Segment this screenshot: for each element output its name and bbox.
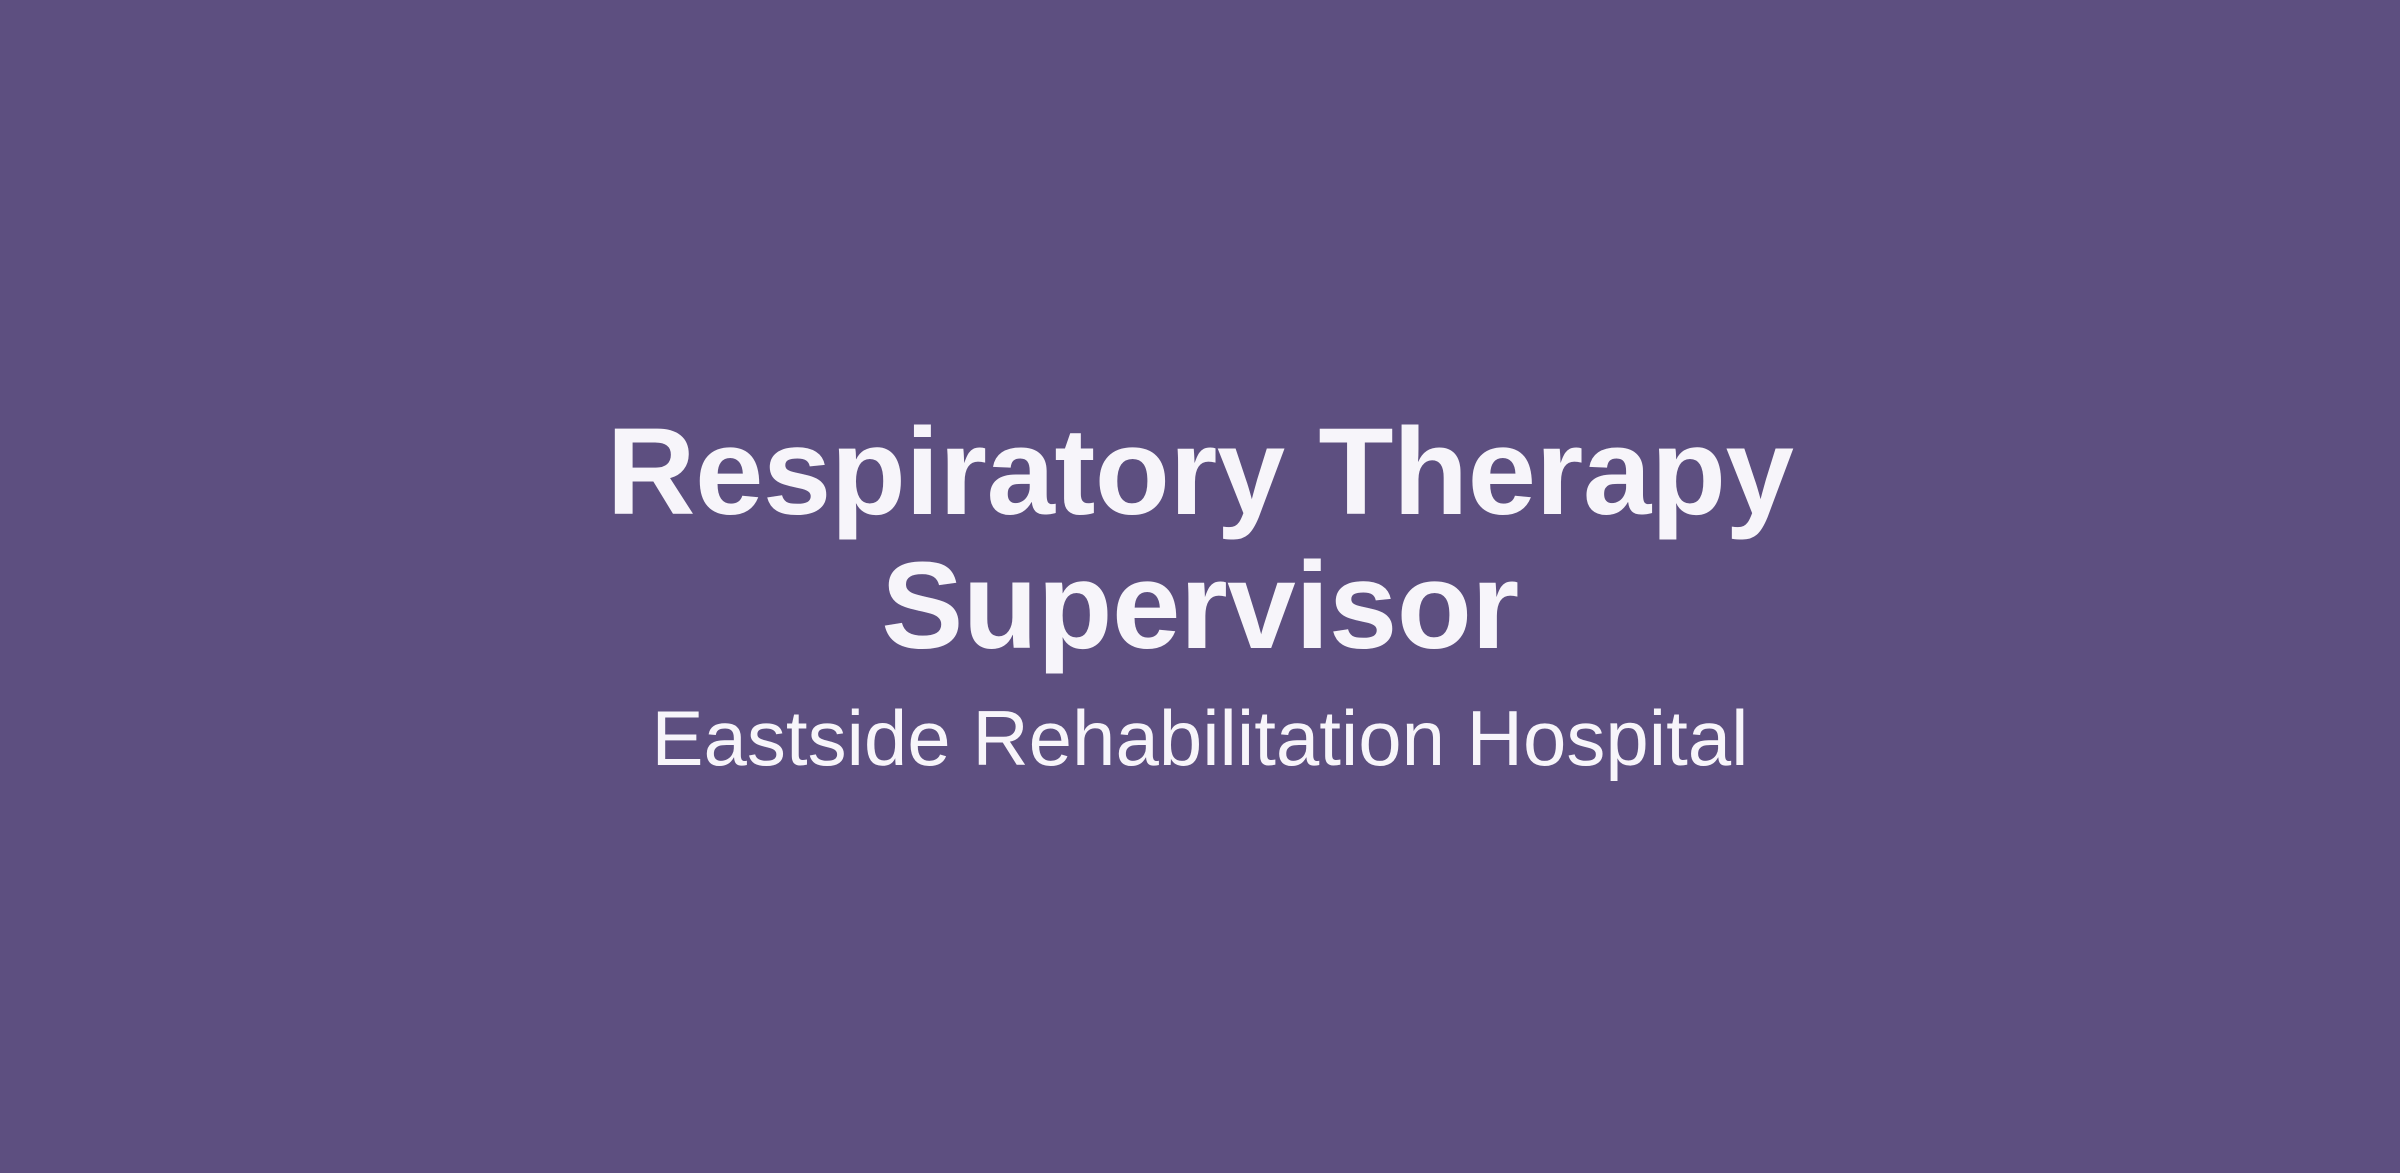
hero-text-block: Respiratory Therapy Supervisor Eastside …	[600, 406, 1800, 782]
page-title: Respiratory Therapy Supervisor	[600, 406, 1800, 673]
job-posting-card: Respiratory Therapy Supervisor Eastside …	[0, 0, 2400, 1173]
organization-name: Eastside Rehabilitation Hospital	[600, 695, 1800, 782]
